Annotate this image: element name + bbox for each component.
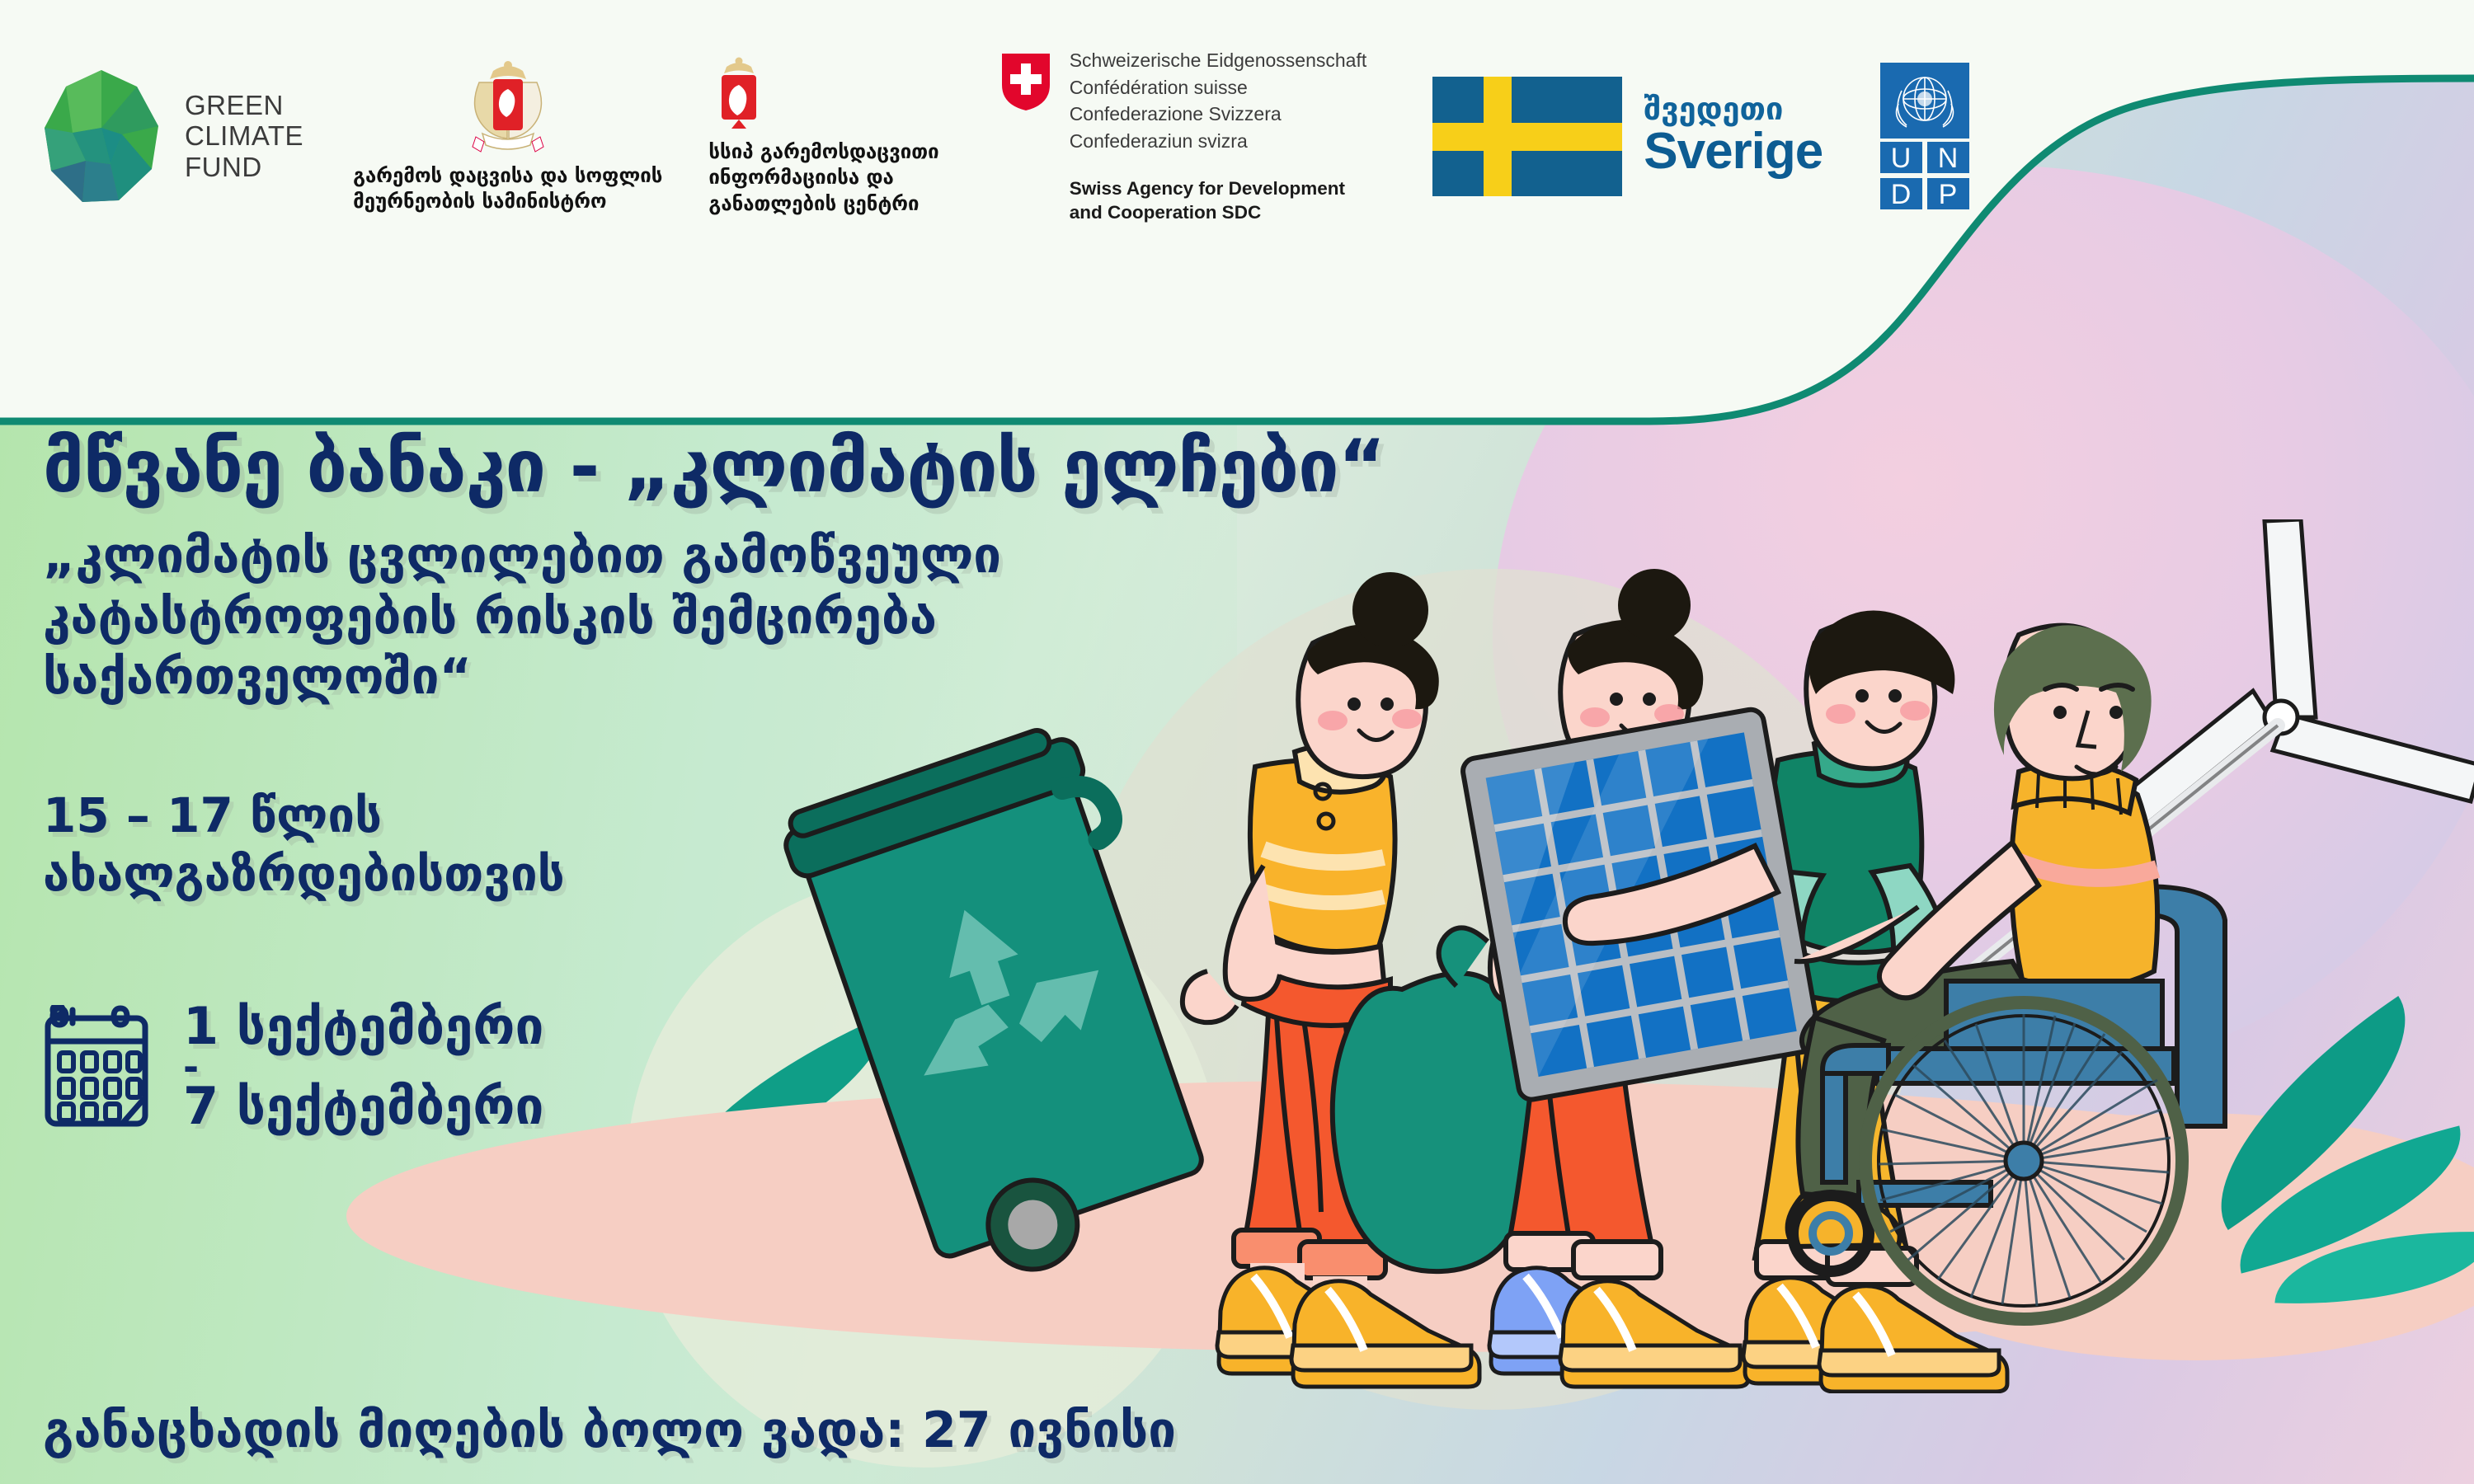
subtitle-line-1: „კლიმატის ცვლილებით გამოწვეული xyxy=(43,526,1445,586)
date-end: 7 სექტემბერი xyxy=(183,1080,543,1133)
date-start: 1 სექტემბერი xyxy=(183,1000,543,1053)
page-title: მწვანე ბანაკი - „კლიმატის ელჩები“ xyxy=(43,429,1445,505)
main-copy: მწვანე ბანაკი - „კლიმატის ელჩები“ „კლიმა… xyxy=(43,429,1445,1134)
age-line-2: ახალგაზრდებისთვის xyxy=(43,845,1445,904)
date-range: 1 სექტემბერი - 7 სექტემბერი xyxy=(183,1000,543,1133)
age-requirement: 15 – 17 წლის ახალგაზრდებისთვის xyxy=(43,787,1445,904)
calendar-icon xyxy=(43,1005,150,1129)
poster-root: GREEN CLIMATE FUND xyxy=(0,0,2474,1484)
project-subtitle: „კლიმატის ცვლილებით გამოწვეული კატასტროფ… xyxy=(43,526,1445,707)
age-line-1: 15 – 17 წლის xyxy=(43,787,1445,845)
subtitle-line-3: საქართველოში“ xyxy=(43,647,1445,707)
subtitle-line-2: კატასტროფების რისკის შემცირება xyxy=(43,587,1445,647)
event-dates: 1 სექტემბერი - 7 სექტემბერი xyxy=(43,1000,1445,1133)
application-deadline: განაცხადის მიღების ბოლო ვადა: 27 ივნისი xyxy=(43,1402,1176,1459)
